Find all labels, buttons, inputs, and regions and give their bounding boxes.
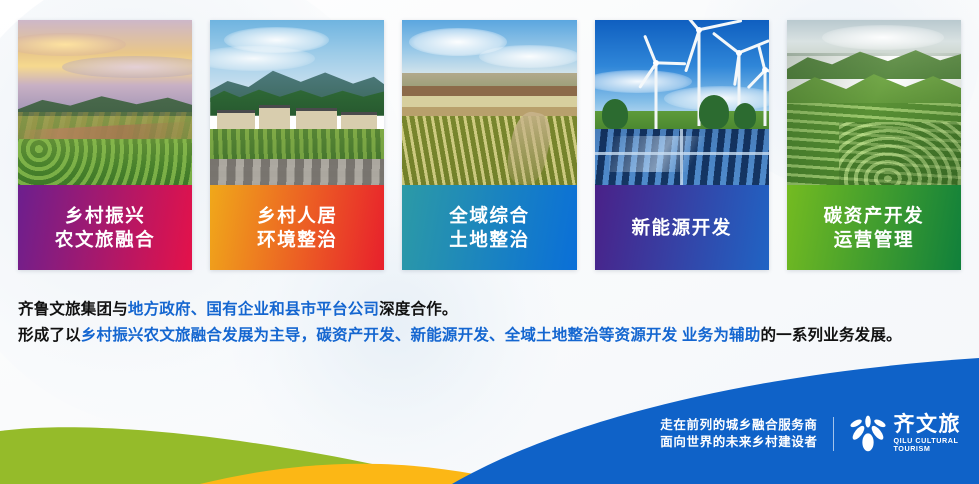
business-card-row: 乡村振兴 农文旅融合 [18,20,961,270]
card-label-line: 全域综合 [449,204,529,228]
tagline-line: 面向世界的未来乡村建设者 [660,434,817,451]
wind-turbine-icon [636,63,676,129]
footer: 走在前列的城乡融合服务商 面向世界的未来乡村建设者 齐文旅 QILU CULTU… [660,414,961,454]
footer-divider [833,417,834,451]
tagline-line: 走在前列的城乡融合服务商 [660,417,817,434]
qilu-flower-logo-icon [849,415,887,453]
business-card-label: 全域综合 土地整治 [402,185,576,270]
body-copy-text: 形成了以 [18,327,81,344]
orange-curve-shape [200,464,520,484]
card-label-line: 新能源开发 [631,216,732,240]
brand-logo[interactable]: 齐文旅 QILU CULTURAL TOURISM [849,414,962,454]
body-paragraph-1: 齐鲁文旅集团与地方政府、国有企业和县市平台公司深度合作。 [18,297,963,323]
body-paragraph-2: 形成了以乡村振兴农文旅融合发展为主导，碳资产开发、新能源开发、全域土地整治等资源… [18,323,963,349]
business-card[interactable]: 乡村振兴 农文旅融合 [18,20,192,270]
footer-tagline: 走在前列的城乡融合服务商 面向世界的未来乡村建设者 [660,417,817,451]
card-label-line: 运营管理 [834,228,914,252]
aerial-cropland-photo [402,20,576,185]
brand-name-cn: 齐文旅 [894,414,962,436]
body-copy-text: 深度合作。 [379,301,458,318]
body-copy-highlight: 地方政府、国有企业和县市平台公司 [128,301,379,318]
body-copy-text: 的一系列业务发展。 [760,327,901,344]
card-label-line: 土地整治 [449,228,529,252]
brand-en-line: TOURISM [894,445,962,454]
business-card-label: 新能源开发 [595,185,769,270]
brand-name-en: QILU CULTURAL TOURISM [894,437,962,454]
body-copy-text: 齐鲁文旅集团与 [18,301,128,318]
wind-turbines-solar-panels-photo [595,20,769,185]
card-label-line: 乡村振兴 [65,204,145,228]
bottom-decorative-curves [0,334,979,484]
terraced-farmland-sunset-photo [18,20,192,185]
body-copy: 齐鲁文旅集团与地方政府、国有企业和县市平台公司深度合作。 形成了以乡村振兴农文旅… [18,297,963,349]
body-copy-highlight: 乡村振兴农文旅融合发展为主导，碳资产开发、新能源开发、全域土地整治等资源开发 业… [81,327,761,344]
card-label-line: 农文旅融合 [55,228,156,252]
business-card[interactable]: 碳资产开发 运营管理 [787,20,961,270]
business-card-label: 碳资产开发 运营管理 [787,185,961,270]
green-curve-shape [0,427,460,484]
business-card[interactable]: 新能源开发 [595,20,769,270]
green-terraced-mountains-photo [787,20,961,185]
slide-canvas: 乡村振兴 农文旅融合 [0,0,979,484]
business-card-label: 乡村振兴 农文旅融合 [18,185,192,270]
brand-wordmark: 齐文旅 QILU CULTURAL TOURISM [894,414,962,454]
business-card[interactable]: 乡村人居 环境整治 [210,20,384,270]
rural-village-houses-photo [210,20,384,185]
card-label-line: 乡村人居 [257,204,337,228]
business-card[interactable]: 全域综合 土地整治 [402,20,576,270]
business-card-label: 乡村人居 环境整治 [210,185,384,270]
card-label-line: 碳资产开发 [824,204,925,228]
card-label-line: 环境整治 [257,228,337,252]
